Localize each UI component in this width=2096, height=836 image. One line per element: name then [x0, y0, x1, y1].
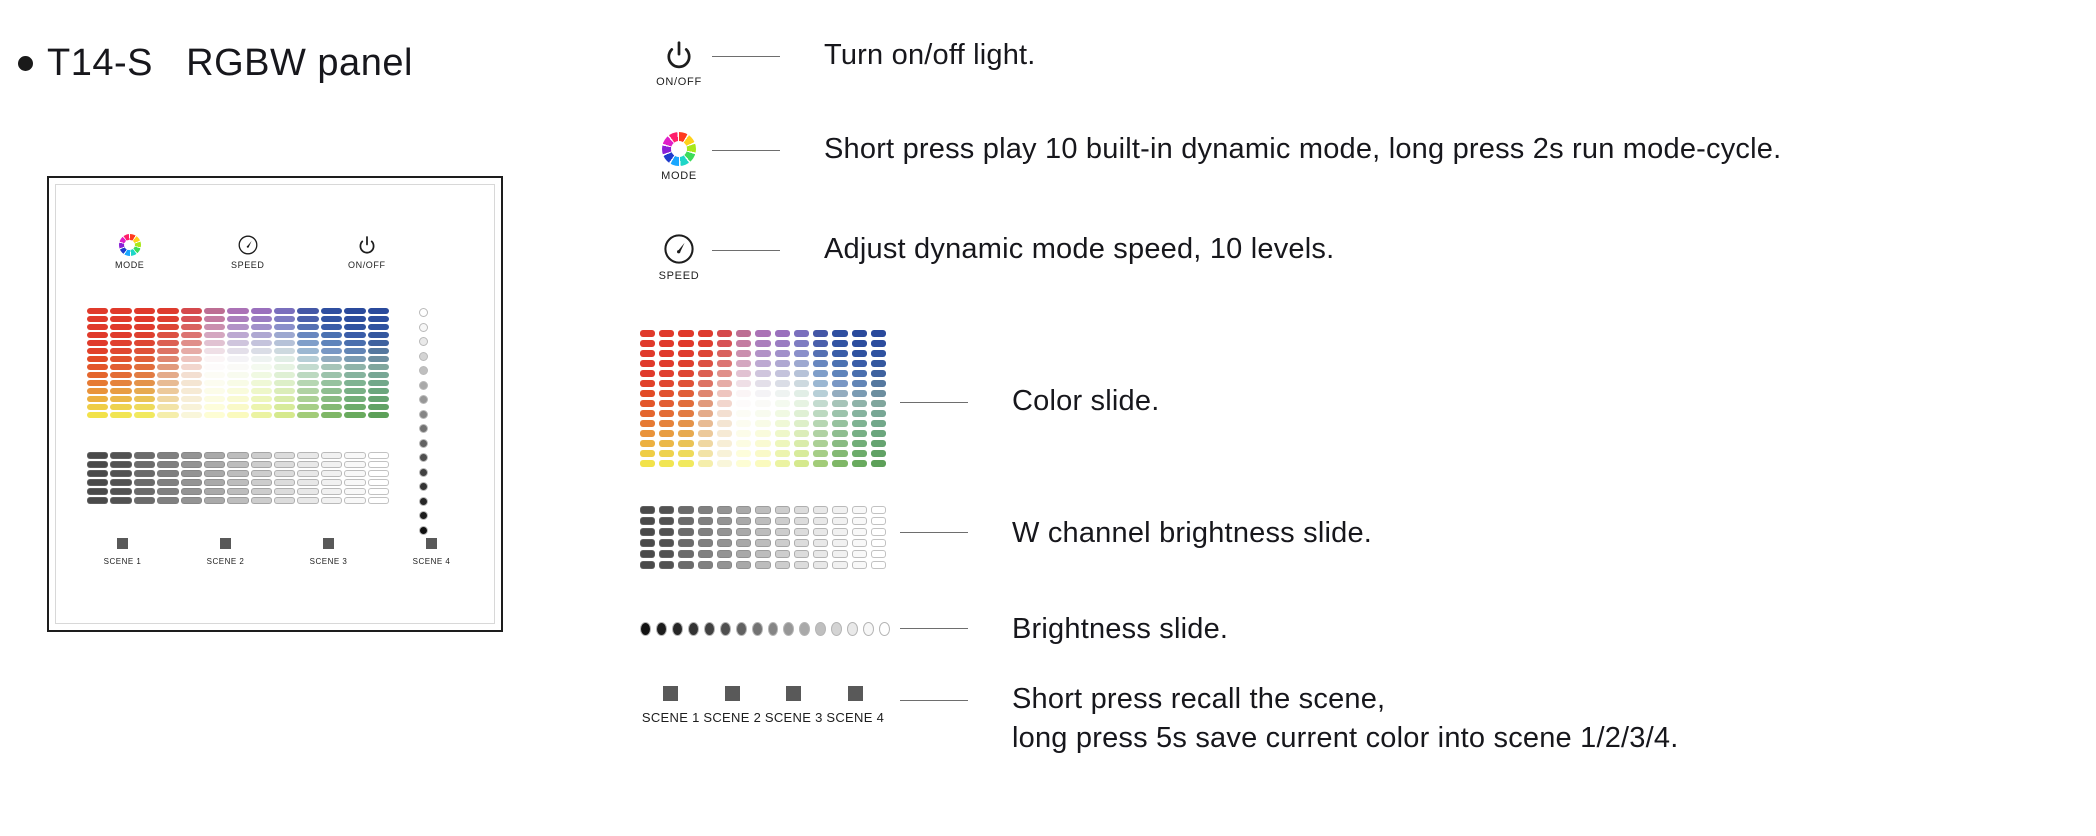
color-swatch[interactable] — [87, 380, 108, 386]
w-channel-swatch[interactable] — [775, 517, 790, 525]
device-color-slide[interactable] — [87, 308, 389, 418]
color-swatch[interactable] — [227, 404, 248, 410]
w-channel-swatch[interactable] — [717, 539, 732, 547]
color-swatch[interactable] — [134, 348, 155, 354]
color-swatch[interactable] — [755, 330, 770, 337]
color-swatch[interactable] — [775, 350, 790, 357]
color-swatch[interactable] — [251, 364, 272, 370]
w-channel-swatch[interactable] — [227, 461, 248, 468]
color-swatch[interactable] — [157, 372, 178, 378]
w-channel-swatch[interactable] — [640, 528, 655, 536]
brightness-dot[interactable] — [736, 622, 747, 636]
color-swatch[interactable] — [134, 364, 155, 370]
color-swatch[interactable] — [87, 388, 108, 394]
brightness-dot[interactable] — [419, 511, 428, 520]
color-swatch[interactable] — [698, 450, 713, 457]
w-channel-swatch[interactable] — [251, 479, 272, 486]
color-swatch[interactable] — [344, 356, 365, 362]
color-swatch[interactable] — [659, 450, 674, 457]
color-swatch[interactable] — [368, 316, 389, 322]
color-swatch[interactable] — [775, 440, 790, 447]
color-swatch[interactable] — [157, 324, 178, 330]
color-swatch[interactable] — [110, 356, 131, 362]
color-swatch[interactable] — [717, 430, 732, 437]
color-swatch[interactable] — [134, 412, 155, 418]
w-channel-swatch[interactable] — [871, 528, 886, 536]
w-channel-swatch[interactable] — [227, 497, 248, 504]
w-channel-swatch[interactable] — [736, 517, 751, 525]
color-swatch[interactable] — [204, 332, 225, 338]
w-channel-swatch[interactable] — [794, 539, 809, 547]
color-swatch[interactable] — [227, 364, 248, 370]
brightness-dot[interactable] — [419, 482, 428, 491]
color-swatch[interactable] — [87, 412, 108, 418]
w-channel-swatch[interactable] — [871, 506, 886, 514]
color-swatch[interactable] — [204, 412, 225, 418]
color-swatch[interactable] — [274, 356, 295, 362]
color-swatch[interactable] — [157, 404, 178, 410]
color-swatch[interactable] — [251, 356, 272, 362]
w-channel-swatch[interactable] — [852, 550, 867, 558]
color-swatch[interactable] — [134, 404, 155, 410]
brightness-dot[interactable] — [815, 622, 826, 636]
color-swatch[interactable] — [227, 356, 248, 362]
w-channel-swatch[interactable] — [698, 528, 713, 536]
color-swatch[interactable] — [344, 396, 365, 402]
w-channel-swatch[interactable] — [736, 550, 751, 558]
device-scene-button-2[interactable]: SCENE 2 — [174, 538, 277, 566]
color-swatch[interactable] — [368, 388, 389, 394]
color-swatch[interactable] — [321, 356, 342, 362]
color-swatch[interactable] — [251, 388, 272, 394]
w-channel-swatch[interactable] — [204, 461, 225, 468]
color-swatch[interactable] — [736, 400, 751, 407]
color-swatch[interactable] — [678, 410, 693, 417]
color-swatch[interactable] — [852, 370, 867, 377]
color-swatch[interactable] — [181, 308, 202, 314]
color-swatch[interactable] — [181, 356, 202, 362]
color-swatch[interactable] — [717, 420, 732, 427]
brightness-dot[interactable] — [419, 395, 428, 404]
color-swatch[interactable] — [110, 388, 131, 394]
color-swatch[interactable] — [87, 404, 108, 410]
color-swatch[interactable] — [755, 420, 770, 427]
w-channel-swatch[interactable] — [813, 561, 828, 569]
color-swatch[interactable] — [698, 400, 713, 407]
color-swatch[interactable] — [755, 400, 770, 407]
brightness-dot[interactable] — [752, 622, 763, 636]
color-swatch[interactable] — [717, 330, 732, 337]
color-swatch[interactable] — [344, 316, 365, 322]
color-swatch[interactable] — [181, 340, 202, 346]
w-channel-swatch[interactable] — [321, 479, 342, 486]
color-swatch[interactable] — [368, 324, 389, 330]
w-channel-swatch[interactable] — [832, 517, 847, 525]
color-swatch[interactable] — [755, 430, 770, 437]
w-channel-swatch[interactable] — [297, 461, 318, 468]
color-swatch[interactable] — [640, 400, 655, 407]
w-channel-swatch[interactable] — [813, 539, 828, 547]
color-swatch[interactable] — [717, 460, 732, 467]
color-swatch[interactable] — [157, 316, 178, 322]
color-swatch[interactable] — [832, 330, 847, 337]
w-channel-swatch[interactable] — [775, 550, 790, 558]
color-swatch[interactable] — [678, 360, 693, 367]
w-channel-swatch[interactable] — [698, 517, 713, 525]
w-channel-swatch[interactable] — [678, 506, 693, 514]
w-channel-swatch[interactable] — [852, 528, 867, 536]
color-swatch[interactable] — [832, 340, 847, 347]
color-swatch[interactable] — [640, 440, 655, 447]
color-swatch[interactable] — [110, 380, 131, 386]
color-swatch[interactable] — [368, 364, 389, 370]
color-swatch[interactable] — [813, 420, 828, 427]
w-channel-swatch[interactable] — [251, 488, 272, 495]
color-swatch[interactable] — [134, 372, 155, 378]
color-swatch[interactable] — [321, 364, 342, 370]
device-mode-button[interactable]: MODE — [115, 234, 144, 270]
w-channel-swatch[interactable] — [852, 506, 867, 514]
color-swatch[interactable] — [181, 404, 202, 410]
color-swatch[interactable] — [297, 356, 318, 362]
w-channel-swatch[interactable] — [794, 550, 809, 558]
w-channel-swatch[interactable] — [368, 461, 389, 468]
color-swatch[interactable] — [678, 350, 693, 357]
color-swatch[interactable] — [204, 340, 225, 346]
color-swatch[interactable] — [134, 340, 155, 346]
w-channel-swatch[interactable] — [157, 470, 178, 477]
color-swatch[interactable] — [852, 380, 867, 387]
color-swatch[interactable] — [813, 370, 828, 377]
w-channel-swatch[interactable] — [157, 452, 178, 459]
legend-scene-button-4[interactable]: SCENE 4 — [825, 686, 887, 725]
w-channel-swatch[interactable] — [678, 539, 693, 547]
color-swatch[interactable] — [775, 390, 790, 397]
color-swatch[interactable] — [87, 316, 108, 322]
color-swatch[interactable] — [736, 360, 751, 367]
w-channel-swatch[interactable] — [852, 561, 867, 569]
w-channel-swatch[interactable] — [794, 506, 809, 514]
color-swatch[interactable] — [640, 450, 655, 457]
color-swatch[interactable] — [157, 348, 178, 354]
color-swatch[interactable] — [87, 356, 108, 362]
w-channel-swatch[interactable] — [321, 461, 342, 468]
brightness-dot[interactable] — [847, 622, 858, 636]
color-swatch[interactable] — [832, 460, 847, 467]
color-swatch[interactable] — [678, 420, 693, 427]
color-swatch[interactable] — [678, 330, 693, 337]
w-channel-swatch[interactable] — [698, 539, 713, 547]
color-swatch[interactable] — [659, 330, 674, 337]
color-swatch[interactable] — [717, 440, 732, 447]
color-swatch[interactable] — [794, 400, 809, 407]
color-swatch[interactable] — [813, 330, 828, 337]
color-swatch[interactable] — [813, 340, 828, 347]
w-channel-swatch[interactable] — [755, 539, 770, 547]
color-swatch[interactable] — [181, 332, 202, 338]
color-swatch[interactable] — [640, 410, 655, 417]
color-swatch[interactable] — [134, 380, 155, 386]
color-swatch[interactable] — [852, 460, 867, 467]
color-swatch[interactable] — [110, 396, 131, 402]
color-swatch[interactable] — [794, 420, 809, 427]
w-channel-swatch[interactable] — [368, 488, 389, 495]
w-channel-swatch[interactable] — [775, 561, 790, 569]
color-swatch[interactable] — [698, 430, 713, 437]
color-swatch[interactable] — [852, 440, 867, 447]
color-swatch[interactable] — [181, 364, 202, 370]
color-swatch[interactable] — [181, 372, 202, 378]
color-swatch[interactable] — [717, 380, 732, 387]
color-swatch[interactable] — [157, 332, 178, 338]
color-swatch[interactable] — [110, 412, 131, 418]
color-swatch[interactable] — [755, 380, 770, 387]
color-swatch[interactable] — [134, 324, 155, 330]
color-swatch[interactable] — [852, 350, 867, 357]
color-swatch[interactable] — [736, 420, 751, 427]
color-swatch[interactable] — [297, 396, 318, 402]
color-swatch[interactable] — [755, 350, 770, 357]
color-swatch[interactable] — [775, 370, 790, 377]
brightness-dot[interactable] — [768, 622, 779, 636]
color-swatch[interactable] — [698, 440, 713, 447]
w-channel-swatch[interactable] — [832, 550, 847, 558]
w-channel-swatch[interactable] — [134, 497, 155, 504]
w-channel-swatch[interactable] — [157, 479, 178, 486]
w-channel-swatch[interactable] — [678, 528, 693, 536]
color-swatch[interactable] — [775, 450, 790, 457]
w-channel-swatch[interactable] — [698, 561, 713, 569]
color-swatch[interactable] — [321, 340, 342, 346]
color-swatch[interactable] — [274, 372, 295, 378]
color-swatch[interactable] — [813, 400, 828, 407]
color-swatch[interactable] — [321, 380, 342, 386]
color-swatch[interactable] — [698, 390, 713, 397]
color-swatch[interactable] — [157, 308, 178, 314]
w-channel-swatch[interactable] — [110, 452, 131, 459]
color-swatch[interactable] — [678, 440, 693, 447]
color-swatch[interactable] — [832, 440, 847, 447]
color-swatch[interactable] — [755, 440, 770, 447]
color-swatch[interactable] — [181, 380, 202, 386]
color-swatch[interactable] — [871, 370, 886, 377]
color-swatch[interactable] — [321, 316, 342, 322]
color-swatch[interactable] — [181, 316, 202, 322]
color-swatch[interactable] — [832, 360, 847, 367]
w-channel-swatch[interactable] — [297, 479, 318, 486]
color-swatch[interactable] — [274, 324, 295, 330]
color-swatch[interactable] — [640, 370, 655, 377]
color-swatch[interactable] — [344, 348, 365, 354]
color-swatch[interactable] — [678, 400, 693, 407]
color-swatch[interactable] — [775, 460, 790, 467]
w-channel-swatch[interactable] — [659, 561, 674, 569]
color-swatch[interactable] — [274, 364, 295, 370]
color-swatch[interactable] — [736, 390, 751, 397]
color-swatch[interactable] — [110, 316, 131, 322]
color-swatch[interactable] — [274, 340, 295, 346]
color-swatch[interactable] — [794, 370, 809, 377]
w-channel-swatch[interactable] — [717, 528, 732, 536]
w-channel-swatch[interactable] — [227, 470, 248, 477]
color-swatch[interactable] — [297, 308, 318, 314]
brightness-dot[interactable] — [799, 622, 810, 636]
device-speed-button[interactable]: SPEED — [231, 234, 265, 270]
color-swatch[interactable] — [640, 460, 655, 467]
color-swatch[interactable] — [871, 440, 886, 447]
color-swatch[interactable] — [181, 348, 202, 354]
device-scene-button-3[interactable]: SCENE 3 — [277, 538, 380, 566]
color-swatch[interactable] — [227, 316, 248, 322]
color-swatch[interactable] — [87, 364, 108, 370]
device-scene-button-4[interactable]: SCENE 4 — [380, 538, 483, 566]
color-swatch[interactable] — [832, 370, 847, 377]
color-swatch[interactable] — [368, 372, 389, 378]
brightness-dot[interactable] — [419, 453, 428, 462]
color-swatch[interactable] — [736, 330, 751, 337]
color-swatch[interactable] — [227, 332, 248, 338]
w-channel-swatch[interactable] — [274, 470, 295, 477]
color-swatch[interactable] — [794, 430, 809, 437]
w-channel-swatch[interactable] — [297, 470, 318, 477]
w-channel-swatch[interactable] — [717, 561, 732, 569]
color-swatch[interactable] — [110, 324, 131, 330]
brightness-dot[interactable] — [419, 410, 428, 419]
color-swatch[interactable] — [204, 372, 225, 378]
color-swatch[interactable] — [134, 356, 155, 362]
color-swatch[interactable] — [204, 356, 225, 362]
color-swatch[interactable] — [813, 360, 828, 367]
w-channel-swatch[interactable] — [227, 479, 248, 486]
color-swatch[interactable] — [813, 430, 828, 437]
color-swatch[interactable] — [832, 410, 847, 417]
color-swatch[interactable] — [368, 308, 389, 314]
color-swatch[interactable] — [736, 350, 751, 357]
color-swatch[interactable] — [344, 324, 365, 330]
color-swatch[interactable] — [181, 388, 202, 394]
color-swatch[interactable] — [227, 388, 248, 394]
color-swatch[interactable] — [659, 350, 674, 357]
color-swatch[interactable] — [274, 380, 295, 386]
color-swatch[interactable] — [794, 380, 809, 387]
color-swatch[interactable] — [736, 380, 751, 387]
color-swatch[interactable] — [368, 340, 389, 346]
color-swatch[interactable] — [678, 450, 693, 457]
color-swatch[interactable] — [832, 430, 847, 437]
color-swatch[interactable] — [698, 420, 713, 427]
color-swatch[interactable] — [251, 404, 272, 410]
color-swatch[interactable] — [717, 390, 732, 397]
color-swatch[interactable] — [852, 410, 867, 417]
color-swatch[interactable] — [368, 332, 389, 338]
w-channel-swatch[interactable] — [110, 479, 131, 486]
color-swatch[interactable] — [321, 372, 342, 378]
w-channel-swatch[interactable] — [775, 528, 790, 536]
color-swatch[interactable] — [274, 388, 295, 394]
color-swatch[interactable] — [227, 340, 248, 346]
color-swatch[interactable] — [110, 332, 131, 338]
color-swatch[interactable] — [698, 330, 713, 337]
w-channel-swatch[interactable] — [755, 550, 770, 558]
color-swatch[interactable] — [87, 348, 108, 354]
w-channel-swatch[interactable] — [344, 470, 365, 477]
color-swatch[interactable] — [640, 350, 655, 357]
w-channel-swatch[interactable] — [297, 497, 318, 504]
color-swatch[interactable] — [736, 410, 751, 417]
w-channel-swatch[interactable] — [659, 539, 674, 547]
color-swatch[interactable] — [659, 410, 674, 417]
color-swatch[interactable] — [755, 340, 770, 347]
color-swatch[interactable] — [755, 450, 770, 457]
w-channel-swatch[interactable] — [181, 488, 202, 495]
w-channel-swatch[interactable] — [755, 506, 770, 514]
color-swatch[interactable] — [87, 332, 108, 338]
color-swatch[interactable] — [321, 308, 342, 314]
w-channel-swatch[interactable] — [134, 470, 155, 477]
color-swatch[interactable] — [368, 412, 389, 418]
w-channel-swatch[interactable] — [832, 539, 847, 547]
color-swatch[interactable] — [755, 460, 770, 467]
color-swatch[interactable] — [775, 430, 790, 437]
w-channel-swatch[interactable] — [204, 470, 225, 477]
color-swatch[interactable] — [775, 340, 790, 347]
color-swatch[interactable] — [698, 350, 713, 357]
color-swatch[interactable] — [794, 410, 809, 417]
color-swatch[interactable] — [110, 308, 131, 314]
color-swatch[interactable] — [813, 380, 828, 387]
color-swatch[interactable] — [134, 308, 155, 314]
color-swatch[interactable] — [871, 330, 886, 337]
brightness-dot[interactable] — [419, 526, 428, 535]
w-channel-swatch[interactable] — [755, 528, 770, 536]
color-swatch[interactable] — [204, 364, 225, 370]
w-channel-swatch[interactable] — [321, 497, 342, 504]
color-swatch[interactable] — [251, 308, 272, 314]
color-swatch[interactable] — [204, 404, 225, 410]
brightness-dot[interactable] — [419, 424, 428, 433]
color-swatch[interactable] — [717, 400, 732, 407]
color-swatch[interactable] — [832, 390, 847, 397]
color-swatch[interactable] — [871, 410, 886, 417]
color-swatch[interactable] — [640, 330, 655, 337]
color-swatch[interactable] — [832, 420, 847, 427]
color-swatch[interactable] — [794, 460, 809, 467]
w-channel-swatch[interactable] — [775, 539, 790, 547]
color-swatch[interactable] — [87, 396, 108, 402]
brightness-dot[interactable] — [419, 337, 428, 346]
w-channel-swatch[interactable] — [368, 497, 389, 504]
color-swatch[interactable] — [640, 430, 655, 437]
color-swatch[interactable] — [794, 440, 809, 447]
w-channel-swatch[interactable] — [678, 517, 693, 525]
w-channel-swatch[interactable] — [204, 497, 225, 504]
color-swatch[interactable] — [204, 348, 225, 354]
color-swatch[interactable] — [736, 460, 751, 467]
color-swatch[interactable] — [321, 396, 342, 402]
color-swatch[interactable] — [344, 332, 365, 338]
w-channel-swatch[interactable] — [852, 517, 867, 525]
color-swatch[interactable] — [297, 404, 318, 410]
color-swatch[interactable] — [344, 372, 365, 378]
color-swatch[interactable] — [736, 450, 751, 457]
w-channel-swatch[interactable] — [204, 488, 225, 495]
color-swatch[interactable] — [181, 396, 202, 402]
color-swatch[interactable] — [659, 340, 674, 347]
color-swatch[interactable] — [678, 370, 693, 377]
color-swatch[interactable] — [321, 324, 342, 330]
color-swatch[interactable] — [794, 390, 809, 397]
brightness-dot[interactable] — [419, 323, 428, 332]
